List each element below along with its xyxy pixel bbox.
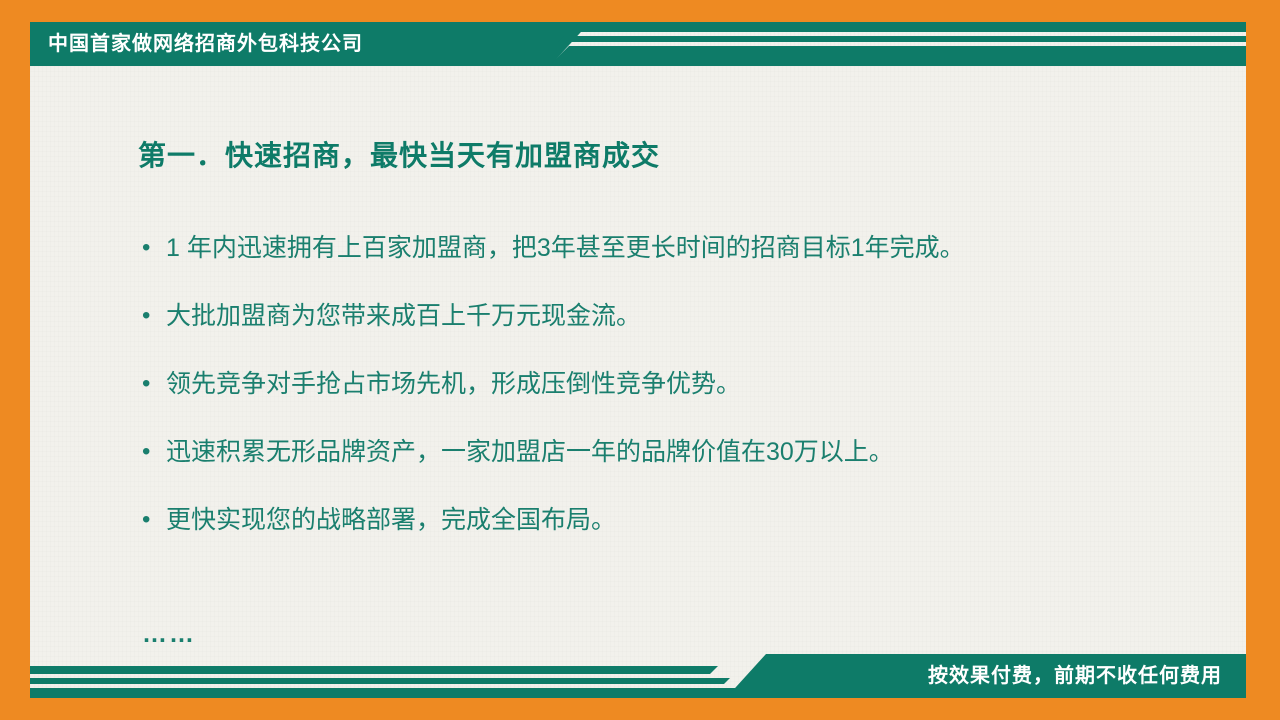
bullet-text: 更快实现您的战略部署，完成全国布局。 xyxy=(166,504,616,536)
bullet-text: 1 年内迅速拥有上百家加盟商，把3年甚至更长时间的招商目标1年完成。 xyxy=(166,232,965,264)
bullet-mark-icon: • xyxy=(142,436,166,468)
bullet-mark-icon: • xyxy=(142,300,166,332)
bullet-mark-icon: • xyxy=(142,368,166,400)
bullet-text: 大批加盟商为您带来成百上千万元现金流。 xyxy=(166,300,641,332)
footer-stripe-top xyxy=(30,666,718,674)
slide-content: 第一．快速招商，最快当天有加盟商成交 • 1 年内迅速拥有上百家加盟商，把3年甚… xyxy=(0,0,1280,720)
footer-stripe-middle xyxy=(30,678,730,684)
bullet-list: • 1 年内迅速拥有上百家加盟商，把3年甚至更长时间的招商目标1年完成。 • 大… xyxy=(142,232,1212,572)
footer-stripe-bottom xyxy=(30,688,750,698)
bullet-text: 领先竞争对手抢占市场先机，形成压倒性竞争优势。 xyxy=(166,368,741,400)
slide: 中国首家做网络招商外包科技公司 第一．快速招商，最快当天有加盟商成交 • 1 年… xyxy=(0,0,1280,720)
list-item: • 大批加盟商为您带来成百上千万元现金流。 xyxy=(142,300,1212,332)
ellipsis-text: …… xyxy=(142,620,196,649)
bullet-mark-icon: • xyxy=(142,504,166,536)
footer-band: 按效果付费，前期不收任何费用 xyxy=(30,654,1246,698)
list-item: • 领先竞争对手抢占市场先机，形成压倒性竞争优势。 xyxy=(142,368,1212,400)
list-item: • 更快实现您的战略部署，完成全国布局。 xyxy=(142,504,1212,536)
page-title: 第一．快速招商，最快当天有加盟商成交 xyxy=(138,134,660,174)
bullet-text: 迅速积累无形品牌资产，一家加盟店一年的品牌价值在30万以上。 xyxy=(166,436,894,468)
list-item: • 迅速积累无形品牌资产，一家加盟店一年的品牌价值在30万以上。 xyxy=(142,436,1212,468)
bullet-mark-icon: • xyxy=(142,232,166,264)
footer-tagline: 按效果付费，前期不收任何费用 xyxy=(928,654,1222,698)
list-item: • 1 年内迅速拥有上百家加盟商，把3年甚至更长时间的招商目标1年完成。 xyxy=(142,232,1212,264)
